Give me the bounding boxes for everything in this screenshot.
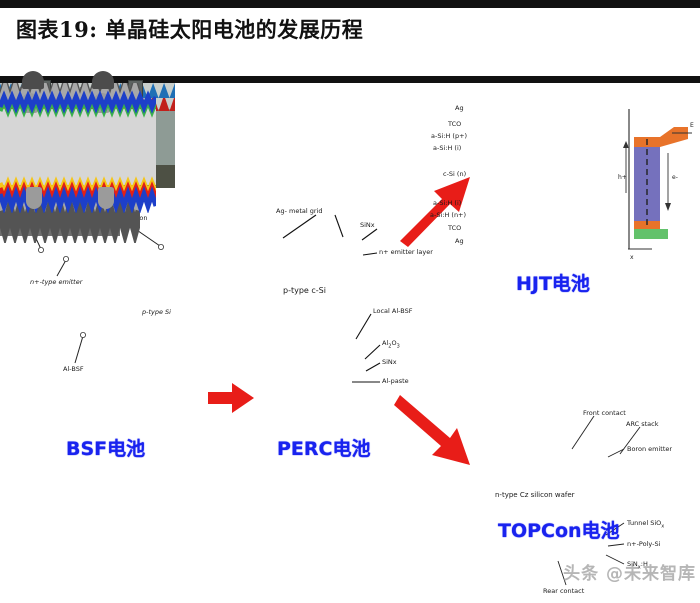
- perc-grid-label: Ag- metal grid: [276, 208, 322, 215]
- topcon-cell-name: TOPCon电池: [498, 516, 620, 543]
- topcon-tunnel-oxide-label: Tunnel SiOx: [627, 520, 664, 529]
- topcon-boron-emitter-label: Boron emitter: [627, 446, 672, 453]
- topcon-rear-contact: [98, 187, 114, 209]
- hjt-asi-p-label: a-Si:H (p+): [431, 133, 467, 140]
- topcon-arc-stack-label: ARC stack: [626, 421, 659, 428]
- hjt-csi-label: c-Si (n): [443, 171, 466, 178]
- bsf-base-label: p-type Si: [142, 309, 171, 316]
- arrow-bsf-to-perc: [206, 379, 258, 419]
- topcon-cell-diagram: Front contact ARC stack Boron emitter n-…: [0, 83, 156, 213]
- perc-sinx-top-label: SiNx: [360, 222, 375, 229]
- hjt-tco-top-label: TCO: [448, 121, 461, 128]
- figure-title: 图表19: 单晶硅太阳电池的发展历程: [16, 14, 676, 58]
- hjt-band-x-label: x: [630, 254, 634, 261]
- watermark: 头条 @未来智库: [563, 559, 696, 584]
- topcon-poly-si-label: n+-Poly-Si: [627, 541, 660, 548]
- bsf-emitter-label: n+-type emitter: [30, 279, 82, 286]
- topcon-front-contact-label: Front contact: [583, 410, 626, 417]
- perc-base-label: p-type c-Si: [283, 287, 326, 295]
- bsf-back-label: Al-BSF: [63, 366, 84, 373]
- hjt-tco-bot-label: TCO: [448, 225, 461, 232]
- perc-sinx-rear-label: SiNx: [382, 359, 397, 366]
- bsf-cell-name: BSF电池: [66, 434, 145, 461]
- topcon-rear-contact: [26, 187, 42, 209]
- topcon-rear-contact-label: Rear contact: [543, 588, 584, 595]
- hjt-asi-i-bot-label: a-Si:H (i): [433, 200, 461, 207]
- diagram-canvas: ARC SiNx front-side metalization n+-type…: [0, 83, 700, 586]
- hjt-band-electron-label: e-: [672, 174, 678, 181]
- hjt-asi-n-label: a-Si:H (n+): [430, 212, 466, 219]
- hjt-cell-name: HJT电池: [516, 269, 590, 296]
- perc-emitter-label: n+ emitter layer: [379, 249, 433, 256]
- title-rule-top: [0, 0, 700, 8]
- hjt-ag-bot-label: Ag: [455, 238, 464, 245]
- hjt-band-e-label: E: [690, 122, 694, 129]
- hjt-ag-top-label: Ag: [455, 105, 464, 112]
- hjt-band-diagram: E h+ e- x: [612, 103, 700, 263]
- topcon-stack: [0, 83, 156, 213]
- arrow-perc-to-topcon: [394, 383, 490, 471]
- topcon-layer-stack: [0, 83, 156, 213]
- topcon-wafer-label: n-type Cz silicon wafer: [495, 492, 575, 499]
- perc-local-albsf-label: Local Al-BSF: [373, 308, 413, 315]
- hjt-asi-i-top-label: a-Si:H (i): [433, 145, 461, 152]
- perc-cell-name: PERC电池: [277, 434, 370, 461]
- perc-al2o3-label: Al2O3: [382, 340, 400, 349]
- hjt-band-hole-label: h+: [618, 174, 627, 181]
